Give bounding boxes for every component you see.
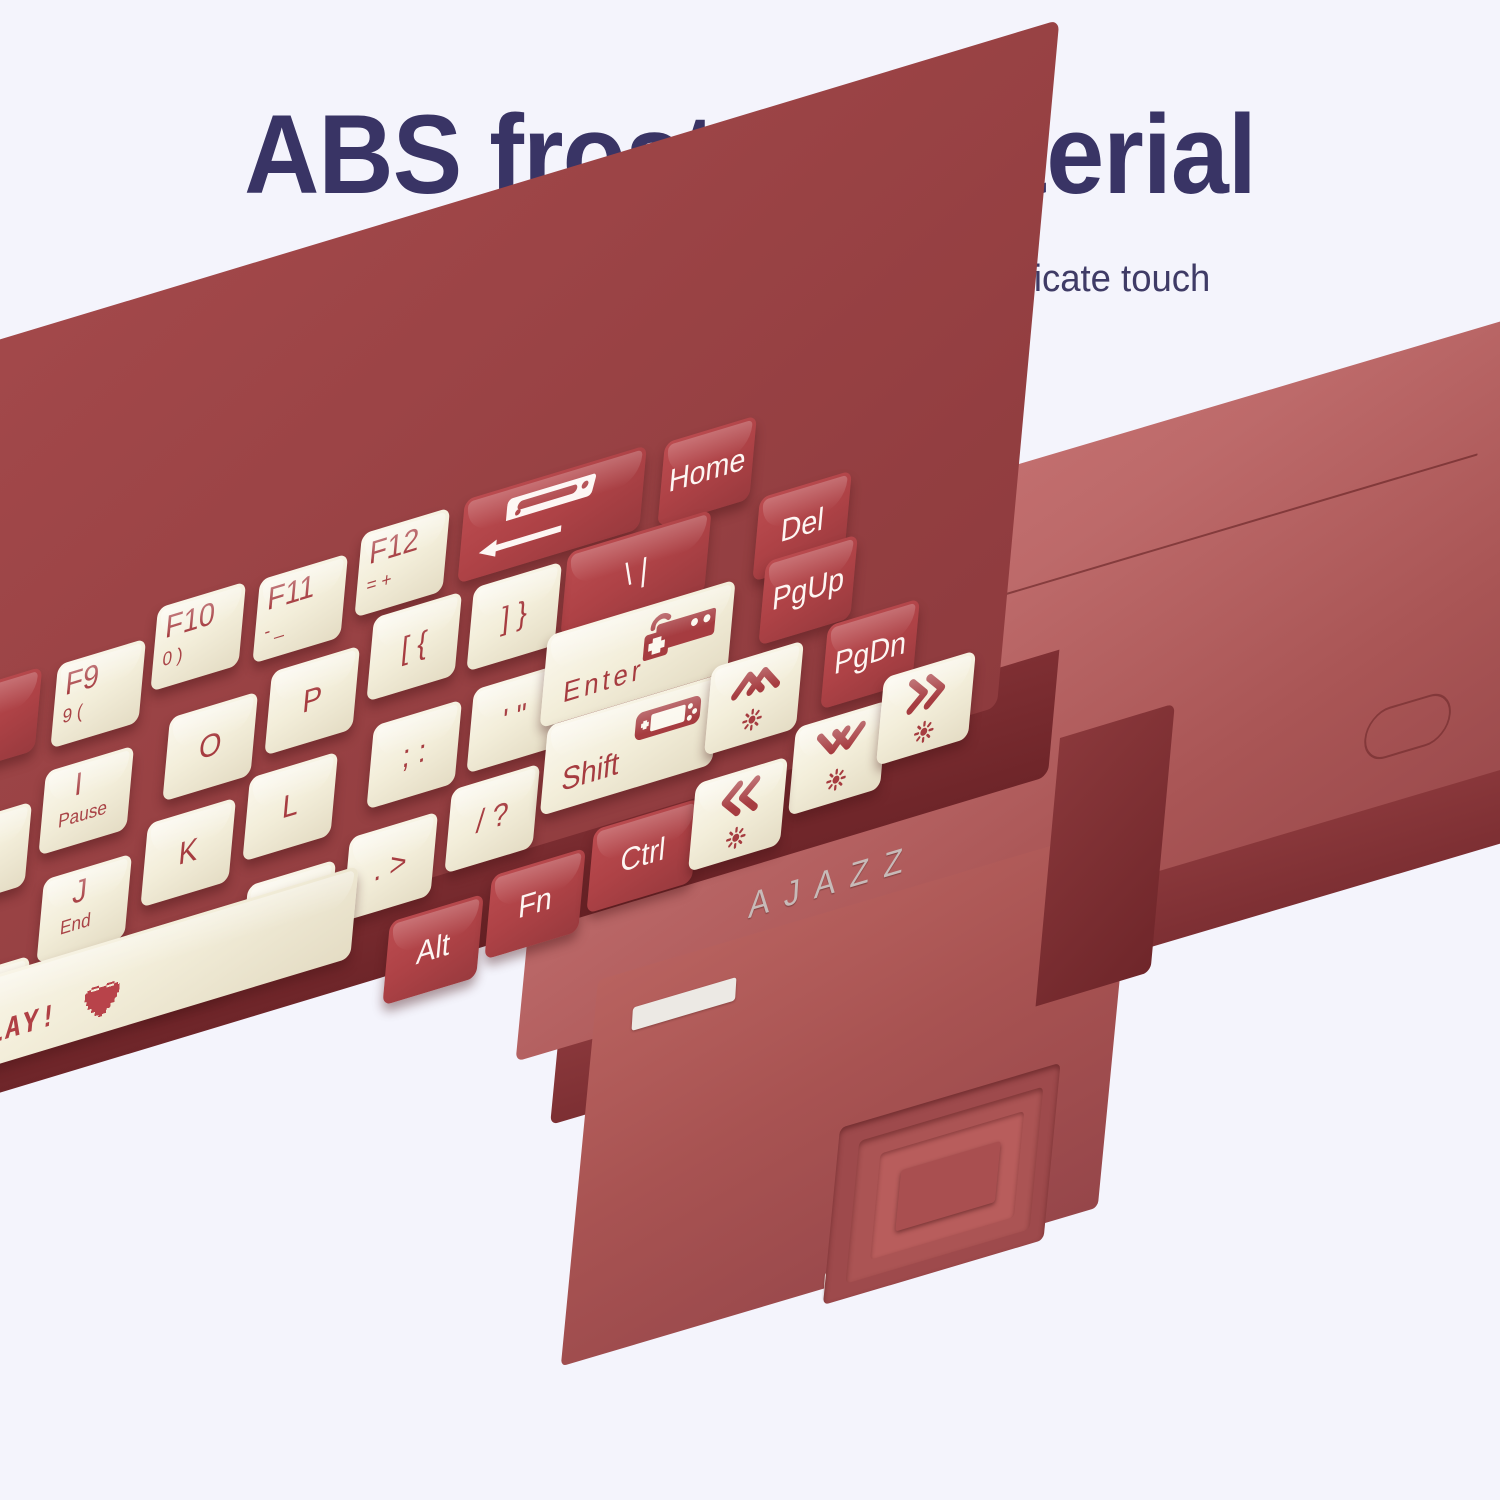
key-i[interactable]: I Pause [38, 745, 134, 855]
key-period[interactable]: . > [342, 811, 438, 921]
chevron-left-icon [716, 773, 763, 823]
key-p[interactable]: P [264, 645, 360, 755]
chevron-right-icon [904, 667, 951, 717]
key-fn[interactable]: Fn [484, 848, 585, 960]
brightness-icon [912, 716, 935, 746]
key-home[interactable]: Home [657, 415, 757, 527]
brightness-icon [724, 822, 747, 852]
keycap-layer: Home \ | Del PgUp PgDn 8 8* F9 9 ( F10 0… [0, 0, 1500, 1500]
pixel-heart-icon [81, 976, 123, 1024]
backlight-icon [824, 765, 847, 795]
key-arrow-down[interactable] [788, 700, 888, 816]
key-f11[interactable]: F11 - _ [252, 553, 348, 663]
chevron-down-icon [812, 717, 867, 765]
key-k[interactable]: K [140, 797, 236, 907]
key-arrow-left[interactable] [688, 756, 788, 872]
key-l[interactable]: L [242, 751, 338, 861]
product-image-stage: ABS frosted material The ABS shell has a… [0, 0, 1500, 1500]
chevron-up-icon [728, 657, 783, 705]
key-semicolon[interactable]: ; : [366, 699, 462, 809]
key-ctrl[interactable]: Ctrl [586, 798, 699, 914]
key-alt[interactable]: Alt [382, 894, 483, 1006]
spacebar-play-label: PLAY! [0, 997, 59, 1057]
key-f8[interactable]: 8 8* [0, 667, 42, 776]
key-slash[interactable]: / ? [444, 763, 540, 873]
backlight-icon [740, 705, 763, 735]
key-f10[interactable]: F10 0 ) [150, 581, 246, 691]
key-f9[interactable]: F9 9 ( [50, 638, 146, 748]
key-o[interactable]: O [162, 691, 258, 801]
key-u[interactable]: U Scroll [0, 801, 32, 911]
